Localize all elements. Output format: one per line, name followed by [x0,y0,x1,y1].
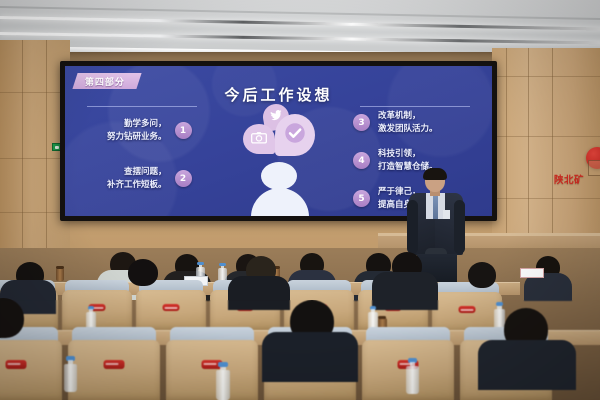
slide-bullet-2-text: 查摆问题， 补齐工作短板。 [107,166,167,192]
slide-bullet-4-number: 4 [353,152,370,169]
chair-back [68,340,160,400]
chair-back [136,290,206,332]
water-bottle [64,356,77,392]
attendee-torso [372,272,438,310]
slide-bullet-3-number: 3 [353,114,370,131]
attendee-torso [228,276,290,310]
slide-title: 今后工作设想 [65,84,492,105]
presenter-tie [433,195,438,219]
chair-back [0,340,62,400]
seat-number-plate [6,360,27,369]
chair-back [166,340,258,400]
seat-number-plate [104,360,125,369]
venue-banner-char-box [588,160,600,176]
presenter-arm-right [454,200,465,254]
ceiling-light-strip [0,16,600,31]
check-icon [275,116,315,150]
slide-bullet-3-text: 改革机制， 激发团队活力。 [378,110,438,136]
slide-bullet-5-number: 5 [353,190,370,207]
attendee-torso [262,332,358,382]
title-rule-left [87,106,197,107]
chair[interactable] [62,290,132,332]
slide-center-graphic [241,104,321,212]
water-bottle [216,362,230,400]
attendee-torso [478,340,576,390]
chair[interactable] [136,290,206,332]
tea-cup [56,268,64,281]
graphic-person-body [251,188,309,216]
slide-bullet-3: 3 改革机制， 激发团队活力。 [353,110,438,136]
slide-bullet-2-number: 2 [175,170,192,187]
seat-number-plate [163,304,180,311]
ceiling-light-strip [0,32,600,45]
slide-bullet-1-text: 勤学多问， 努力钻研业务。 [107,118,167,144]
attendee-head [128,259,158,286]
chair-back [62,290,132,332]
slide-bullet-2: 查摆问题， 补齐工作短板。 2 [107,166,192,192]
conference-room-photo: 陕北矿 第四部分 今后工作设想 勤学多问， 努力钻研业务。 1 查摆问题， 补齐… [0,0,600,400]
speech-bubble-check [275,114,315,156]
seat-number-plate [459,306,476,313]
chair[interactable] [0,340,62,400]
chair[interactable] [166,340,258,400]
camera-icon [243,124,275,150]
check-icon-svg [284,122,306,144]
slide-bullet-1: 勤学多问， 努力钻研业务。 1 [107,118,192,144]
chair[interactable] [68,340,160,400]
speech-bubble-camera [243,124,275,154]
venue-banner-text: 陕北矿 [554,172,584,186]
water-bottle [406,358,419,394]
slide-bullet-1-number: 1 [175,122,192,139]
desk-nameplate [520,268,544,278]
camera-icon-svg [251,131,267,144]
presenter-hair [423,168,447,180]
presenter-arm-left [407,200,418,254]
attendee-head [468,262,496,288]
presenter-badge [443,210,450,219]
graphic-person-head [261,162,297,190]
title-rule-right [360,106,470,107]
